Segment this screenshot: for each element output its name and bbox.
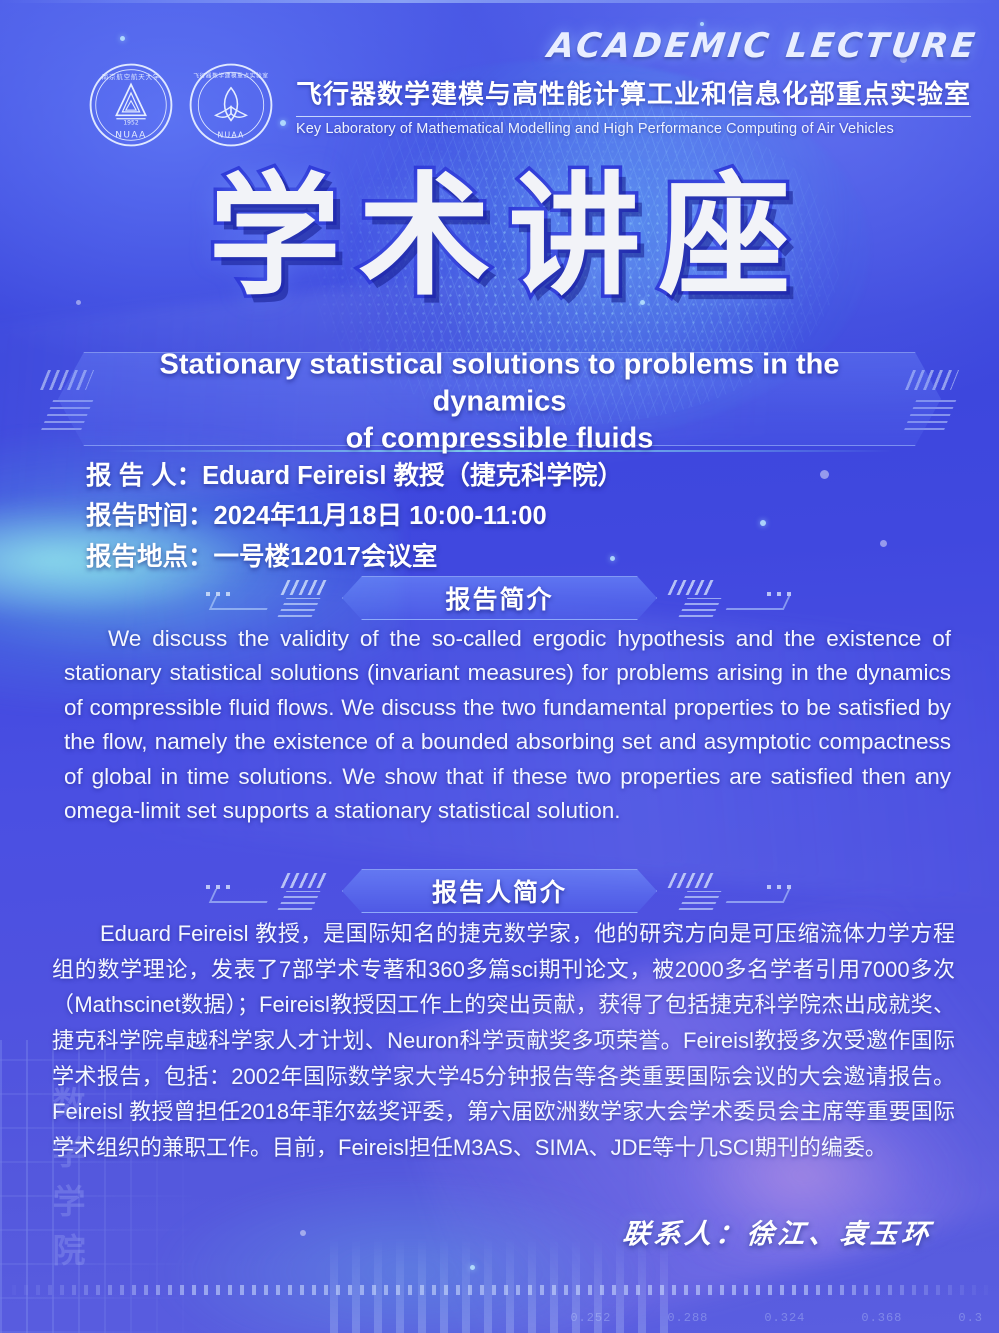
abstract-body: We discuss the validity of the so-called… xyxy=(64,622,951,829)
tick-number: 0.324 xyxy=(764,1311,805,1325)
svg-text:NUAA: NUAA xyxy=(217,131,244,140)
bio-body: Eduard Feireisl 教授，是国际知名的捷克数学家，他的研究方向是可压… xyxy=(52,916,955,1165)
tick-number: 0.288 xyxy=(667,1311,708,1325)
lab-name-cn: 飞行器数学建模与高性能计算工业和信息化部重点实验室 xyxy=(296,74,971,111)
page-title: 学术讲座 xyxy=(0,168,999,307)
bottom-tick-strip xyxy=(0,1285,999,1295)
svg-text:NUAA: NUAA xyxy=(115,131,146,141)
nuaa-secondary-logo: 飞行器数学建模重点实验室 NUAA xyxy=(188,62,274,148)
speaker-value: Eduard Feireisl 教授（捷克科学院） xyxy=(202,462,623,490)
background-top-line xyxy=(0,0,999,3)
tick-number: 0.3 xyxy=(958,1311,983,1325)
venue-line: 报告地点：一号楼12017会议室 xyxy=(86,537,623,577)
svg-text:南京航空航天大学: 南京航空航天大学 xyxy=(102,72,160,81)
svg-text:飞行器数学建模重点实验室: 飞行器数学建模重点实验室 xyxy=(193,71,268,79)
venue-value: 一号楼12017会议室 xyxy=(214,543,438,571)
time-label: 报告时间： xyxy=(86,502,214,530)
lab-name-block: 飞行器数学建模与高性能计算工业和信息化部重点实验室 Key Laboratory… xyxy=(296,74,971,137)
particle-dot xyxy=(820,470,829,479)
particle-dot xyxy=(760,520,766,526)
lecture-subject-text: Stationary statistical solutions to prob… xyxy=(96,346,903,457)
lecture-details: 报 告 人：Eduard Feireisl 教授（捷克科学院） 报告时间：202… xyxy=(86,456,623,577)
tick-number: 0.368 xyxy=(861,1311,902,1325)
lab-name-en: Key Laboratory of Mathematical Modelling… xyxy=(296,121,971,137)
speaker-label: 报 告 人： xyxy=(86,462,202,490)
particle-dot xyxy=(120,36,125,41)
particle-dot xyxy=(880,540,887,547)
lab-identity-header: 1952 NUAA 南京航空航天大学 飞行器数学建模重点实验室 NUAA 飞行器… xyxy=(88,62,971,148)
abstract-section-header: 报告简介 xyxy=(210,576,789,620)
bio-section-header: 报告人简介 xyxy=(210,869,789,913)
academic-lecture-eyebrow: ACADEMIC LECTURE xyxy=(545,26,979,66)
venue-label: 报告地点： xyxy=(86,543,214,571)
subject-line-2: of compressible fluids xyxy=(346,423,654,455)
lecture-poster: ACADEMIC LECTURE 1952 NUAA 南京航空航天大学 xyxy=(0,0,999,1333)
svg-text:1952: 1952 xyxy=(123,119,138,126)
abstract-heading: 报告简介 xyxy=(210,580,789,616)
particle-dot xyxy=(300,1230,306,1236)
tick-number: 0.252 xyxy=(570,1311,611,1325)
speaker-line: 报 告 人：Eduard Feireisl 教授（捷克科学院） xyxy=(86,456,623,496)
nuaa-university-logo: 1952 NUAA 南京航空航天大学 xyxy=(88,62,174,148)
lecture-subject-banner: Stationary statistical solutions to prob… xyxy=(36,352,963,452)
lab-name-divider xyxy=(296,116,971,117)
contact-line: 联系人：徐江、袁玉环 xyxy=(621,1212,935,1251)
particle-dot xyxy=(470,1265,475,1270)
subject-line-1: Stationary statistical solutions to prob… xyxy=(160,348,840,417)
bottom-number-strip: 0.252 0.288 0.324 0.368 0.3 xyxy=(0,1311,999,1325)
bio-heading: 报告人简介 xyxy=(210,873,789,909)
time-line: 报告时间：2024年11月18日 10:00-11:00 xyxy=(86,496,623,536)
department-watermark: 数学学院 xyxy=(42,1086,90,1282)
time-value: 2024年11月18日 10:00-11:00 xyxy=(214,502,547,530)
